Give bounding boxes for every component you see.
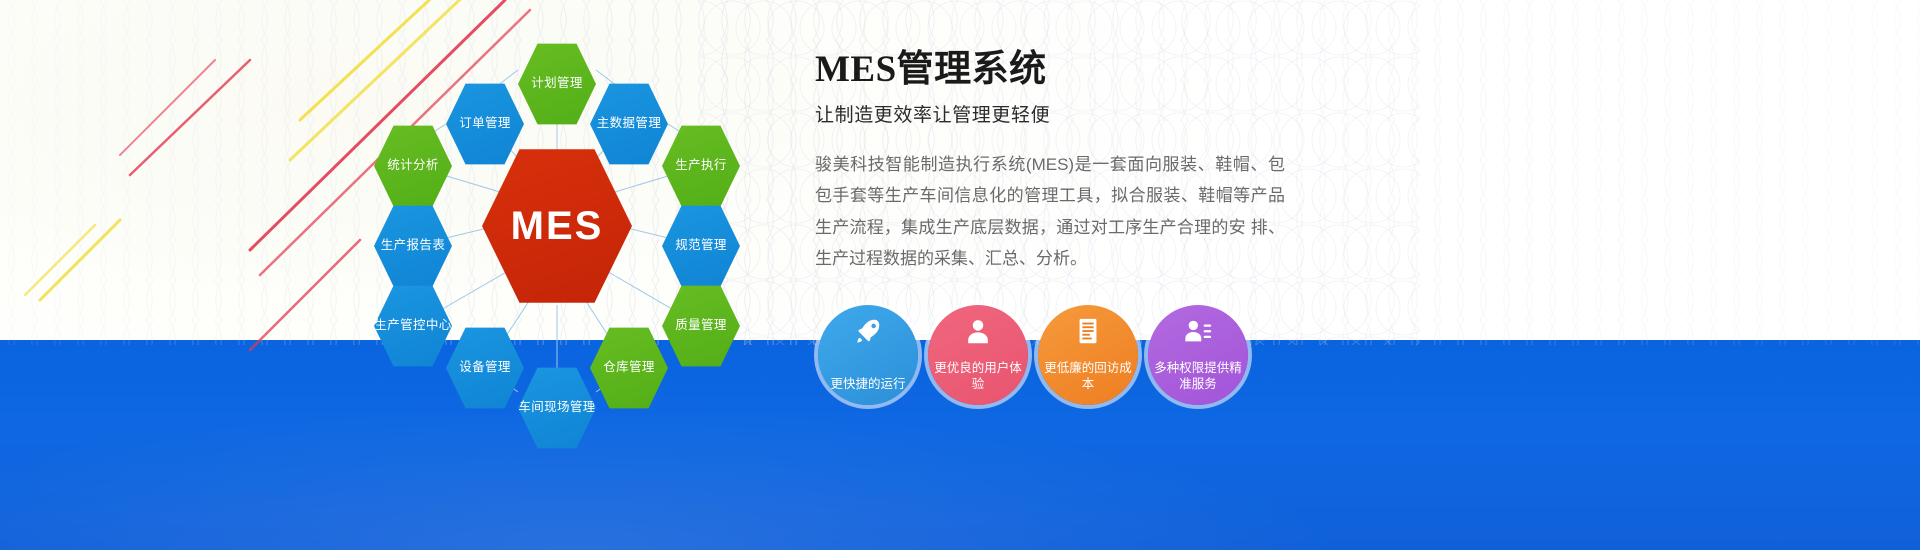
page-subtitle: 让制造更效率让管理更轻便	[815, 100, 1285, 127]
document-icon	[1073, 316, 1103, 346]
badge-label: 更优良的用户体验	[928, 360, 1028, 393]
diagram-node-label: 规范管理	[675, 238, 727, 254]
diagram-node-label: 计划管理	[531, 76, 583, 92]
rocket-icon	[853, 316, 883, 346]
banner-stage: MES 计划管理 订单管理 主数据管理 统计分析 生产执行 生产报告表 规范管理…	[0, 0, 1920, 550]
diagram-node-label: 仓库管理	[603, 360, 655, 376]
badge-better-experience[interactable]: 更优良的用户体验	[928, 305, 1028, 405]
mes-hexagon-diagram: MES 计划管理 订单管理 主数据管理 统计分析 生产执行 生产报告表 规范管理…	[330, 20, 800, 440]
diagram-node-label: 订单管理	[459, 116, 511, 132]
feature-badges: 更快捷的运行 更优良的用户体验 更低廉的回访成本	[818, 305, 1248, 405]
diagram-node-label: 统计分析	[387, 158, 439, 174]
description-paragraph: 骏美科技智能制造执行系统(MES)是一套面向服装、鞋帽、包包手套等生产车间信息化…	[815, 149, 1285, 275]
badge-label: 多种权限提供精准服务	[1148, 360, 1248, 393]
badge-label: 更快捷的运行	[824, 376, 911, 392]
user-icon	[963, 316, 993, 346]
badge-faster-runtime[interactable]: 更快捷的运行	[818, 305, 918, 405]
diagram-node-label: 生产执行	[675, 158, 727, 174]
diagram-node-label: 质量管理	[675, 318, 727, 334]
diagram-center-label: MES	[511, 201, 604, 251]
badge-lower-cost[interactable]: 更低廉的回访成本	[1038, 305, 1138, 405]
page-title: MES管理系统	[815, 50, 1285, 91]
banner-text-column: MES管理系统 让制造更效率让管理更轻便 骏美科技智能制造执行系统(MES)是一…	[815, 50, 1285, 274]
diagram-node-label: 生产报告表	[381, 238, 446, 254]
diagram-node-label: 车间现场管理	[518, 400, 595, 416]
badge-label: 更低廉的回访成本	[1038, 360, 1138, 393]
diagram-node-label: 主数据管理	[597, 116, 662, 132]
user-list-icon	[1183, 316, 1213, 346]
diagram-node-label: 设备管理	[459, 360, 511, 376]
badge-permissions[interactable]: 多种权限提供精准服务	[1148, 305, 1248, 405]
diagram-node-label: 生产管控中心	[374, 318, 451, 334]
